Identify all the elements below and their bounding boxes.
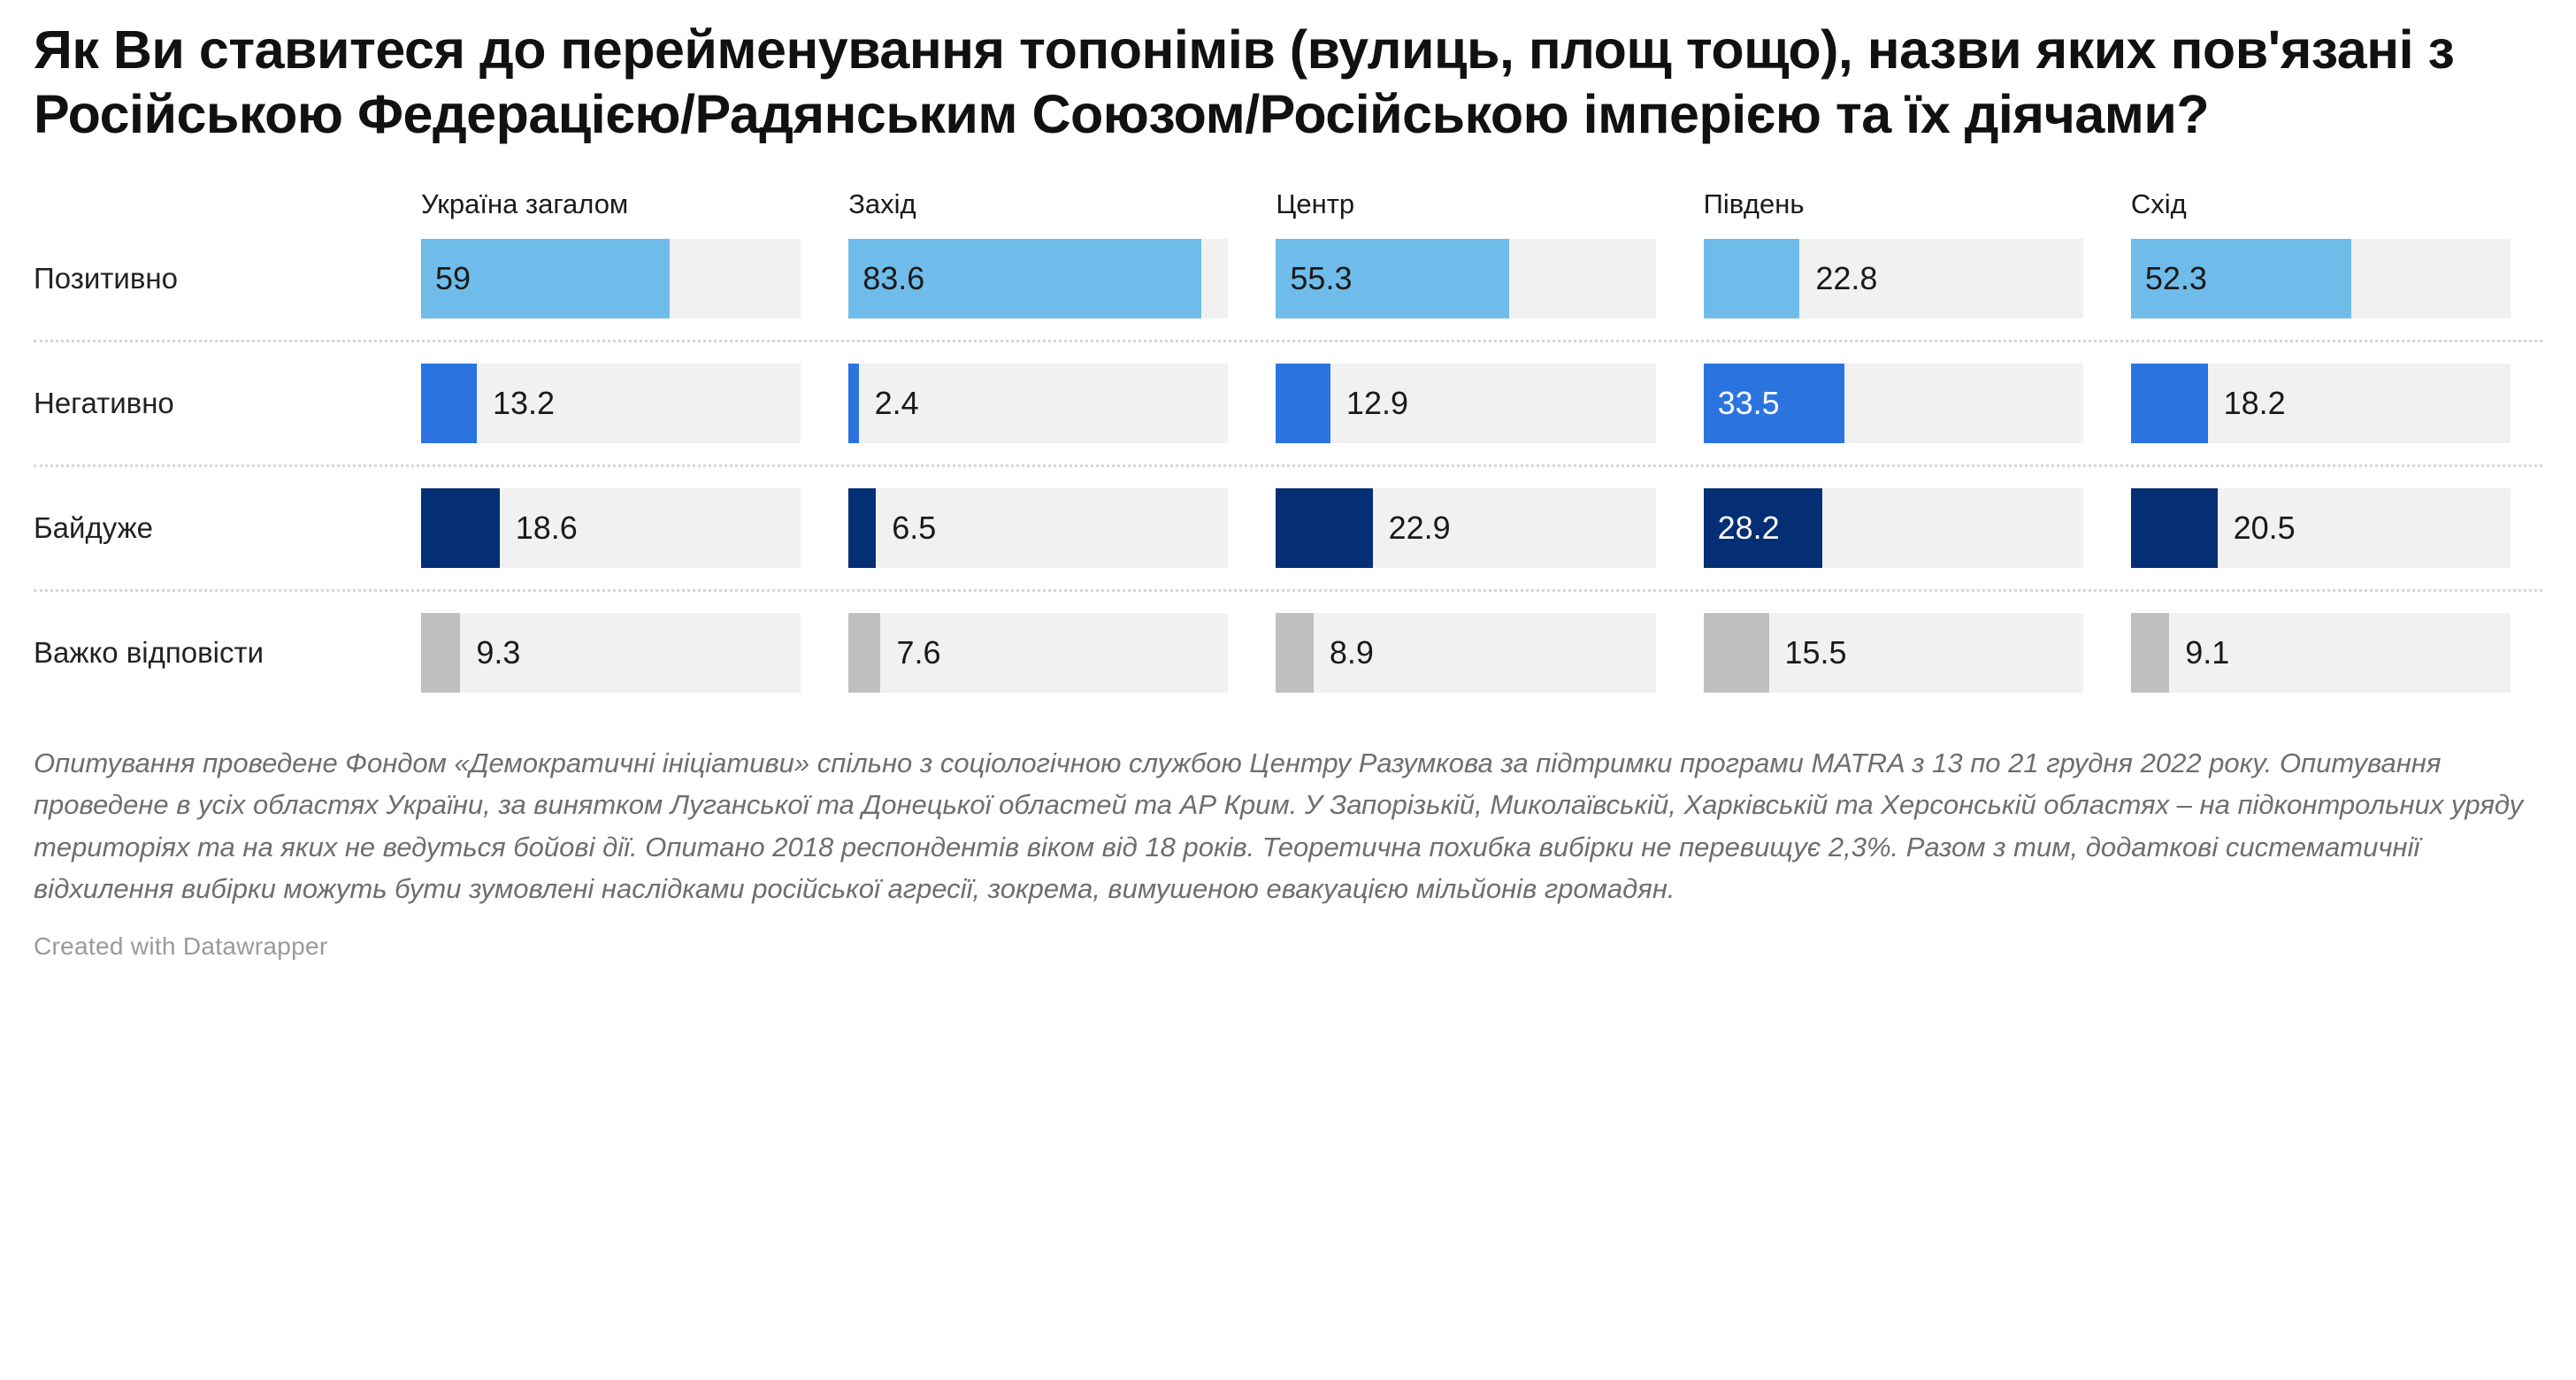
bar-value-label: 22.9 — [1389, 512, 1451, 544]
bar-value-label: 13.2 — [493, 387, 555, 419]
bar-track: 22.9 — [1276, 488, 1655, 568]
bar-track: 59 — [421, 239, 801, 318]
column-header-south: Південь — [1688, 190, 2115, 218]
cell-hard-to-say-0: 9.3 — [405, 592, 832, 714]
bar-track: 20.5 — [2131, 488, 2511, 568]
bar-hard-to-say — [421, 613, 460, 693]
datawrapper-credit: Created with Datawrapper — [34, 932, 2542, 961]
table-row: Позитивно5983.655.322.852.3 — [34, 218, 2542, 340]
bar-track: 18.2 — [2131, 364, 2511, 443]
bar-track: 7.6 — [848, 613, 1228, 693]
bar-chart: Україна загалом Захід Центр Південь Схід… — [34, 170, 2542, 714]
bar-indifferent — [1276, 488, 1372, 568]
row-label-hard-to-say: Важко відповісти — [34, 592, 405, 714]
cell-positive-1: 83.6 — [832, 218, 1260, 340]
cell-indifferent-0: 18.6 — [405, 467, 832, 589]
column-header-east: Схід — [2115, 190, 2542, 218]
cell-positive-3: 22.8 — [1688, 218, 2115, 340]
table-row: Байдуже18.66.522.928.220.5 — [34, 464, 2542, 589]
bar-value-label: 22.8 — [1815, 263, 1877, 295]
column-header-west: Захід — [832, 190, 1260, 218]
bar-negative — [1276, 364, 1330, 443]
bar-value-label: 15.5 — [1785, 637, 1847, 669]
cell-indifferent-2: 22.9 — [1260, 467, 1687, 589]
bar-value-label: 18.2 — [2224, 387, 2286, 419]
cell-negative-2: 12.9 — [1260, 342, 1687, 464]
cell-positive-2: 55.3 — [1260, 218, 1687, 340]
bar-value-label: 55.3 — [1290, 263, 1352, 295]
cell-hard-to-say-1: 7.6 — [832, 592, 1260, 714]
cell-hard-to-say-3: 15.5 — [1688, 592, 2115, 714]
bar-value-label: 8.9 — [1330, 637, 1374, 669]
cell-hard-to-say-4: 9.1 — [2115, 592, 2542, 714]
bar-track: 6.5 — [848, 488, 1228, 568]
bar-positive — [1704, 239, 1800, 318]
bar-indifferent — [421, 488, 500, 568]
bar-track: 8.9 — [1276, 613, 1655, 693]
bar-value-label: 9.1 — [2185, 637, 2229, 669]
bar-value-label: 33.5 — [1718, 387, 1780, 419]
bar-track: 13.2 — [421, 364, 801, 443]
cell-positive-0: 59 — [405, 218, 832, 340]
bar-value-label: 9.3 — [476, 637, 520, 669]
chart-page: Як Ви ставитеся до перейменування топоні… — [0, 0, 2576, 1380]
bar-track: 28.2 — [1704, 488, 2083, 568]
bar-track: 2.4 — [848, 364, 1228, 443]
row-label-negative: Негативно — [34, 342, 405, 464]
bar-value-label: 52.3 — [2145, 263, 2207, 295]
bar-hard-to-say — [2131, 613, 2169, 693]
row-label-indifferent: Байдуже — [34, 467, 405, 589]
bar-value-label: 20.5 — [2234, 512, 2296, 544]
bar-track: 55.3 — [1276, 239, 1655, 318]
bar-value-label: 7.6 — [896, 637, 940, 669]
cell-negative-4: 18.2 — [2115, 342, 2542, 464]
cell-hard-to-say-2: 8.9 — [1260, 592, 1687, 714]
cell-positive-4: 52.3 — [2115, 218, 2542, 340]
bar-track: 15.5 — [1704, 613, 2083, 693]
bar-track: 9.3 — [421, 613, 801, 693]
bar-value-label: 83.6 — [862, 263, 924, 295]
column-header-center: Центр — [1260, 190, 1687, 218]
bar-track: 12.9 — [1276, 364, 1655, 443]
bar-hard-to-say — [848, 613, 880, 693]
bar-value-label: 6.5 — [892, 512, 936, 544]
bar-value-label: 28.2 — [1718, 512, 1780, 544]
cell-indifferent-4: 20.5 — [2115, 467, 2542, 589]
table-row: Негативно13.22.412.933.518.2 — [34, 340, 2542, 464]
bar-value-label: 12.9 — [1346, 387, 1408, 419]
page-title: Як Ви ставитеся до перейменування топоні… — [34, 0, 2511, 147]
cell-negative-1: 2.4 — [832, 342, 1260, 464]
bar-hard-to-say — [1276, 613, 1313, 693]
bar-value-label: 2.4 — [875, 387, 919, 419]
bar-track: 33.5 — [1704, 364, 2083, 443]
bar-value-label: 59 — [435, 263, 471, 295]
table-row: Важко відповісти9.37.68.915.59.1 — [34, 589, 2542, 714]
bar-track: 22.8 — [1704, 239, 2083, 318]
bar-indifferent — [2131, 488, 2218, 568]
column-header-ukraine: Україна загалом — [405, 190, 832, 218]
chart-rows: Позитивно5983.655.322.852.3Негативно13.2… — [34, 218, 2542, 714]
row-label-positive: Позитивно — [34, 218, 405, 340]
bar-negative — [421, 364, 477, 443]
bar-track: 9.1 — [2131, 613, 2511, 693]
cell-indifferent-1: 6.5 — [832, 467, 1260, 589]
bar-track: 83.6 — [848, 239, 1228, 318]
bar-negative — [848, 364, 858, 443]
column-header-row: Україна загалом Захід Центр Південь Схід — [34, 170, 2542, 218]
bar-track: 52.3 — [2131, 239, 2511, 318]
cell-negative-0: 13.2 — [405, 342, 832, 464]
bar-hard-to-say — [1704, 613, 1769, 693]
bar-indifferent — [848, 488, 876, 568]
bar-track: 18.6 — [421, 488, 801, 568]
bar-negative — [2131, 364, 2208, 443]
cell-indifferent-3: 28.2 — [1688, 467, 2115, 589]
footnote-text: Опитування проведене Фондом «Демократичн… — [34, 742, 2537, 908]
bar-value-label: 18.6 — [516, 512, 578, 544]
cell-negative-3: 33.5 — [1688, 342, 2115, 464]
